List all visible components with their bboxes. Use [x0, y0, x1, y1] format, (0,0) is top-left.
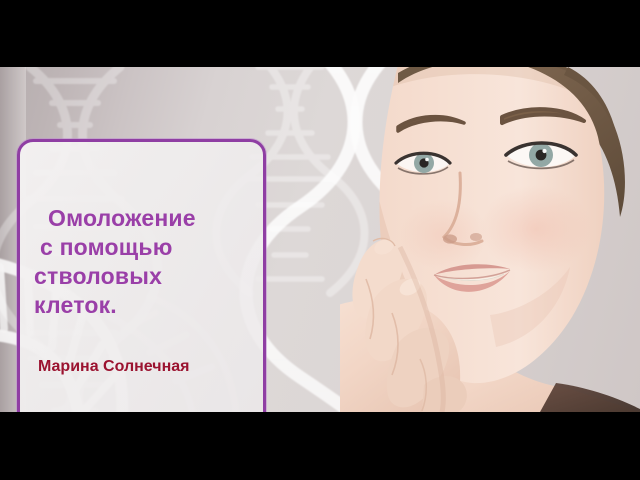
slide-canvas: Омоложение с помощью стволовых клеток. М…	[0, 67, 640, 412]
title-line-4: клеток.	[34, 291, 255, 320]
title-line-3: стволовых	[34, 262, 255, 291]
letterbox-bar-bottom	[0, 412, 640, 480]
page-title: Омоложение с помощью стволовых клеток.	[20, 204, 263, 320]
title-line-2: с помощью	[34, 233, 255, 262]
video-frame: Омоложение с помощью стволовых клеток. М…	[0, 0, 640, 480]
title-line-1: Омоложение	[34, 204, 255, 233]
portrait-photo	[340, 67, 640, 412]
author-name: Марина Солнечная	[20, 357, 263, 377]
title-card: Омоложение с помощью стволовых клеток. М…	[17, 139, 266, 412]
letterbox-bar-top	[0, 0, 640, 67]
